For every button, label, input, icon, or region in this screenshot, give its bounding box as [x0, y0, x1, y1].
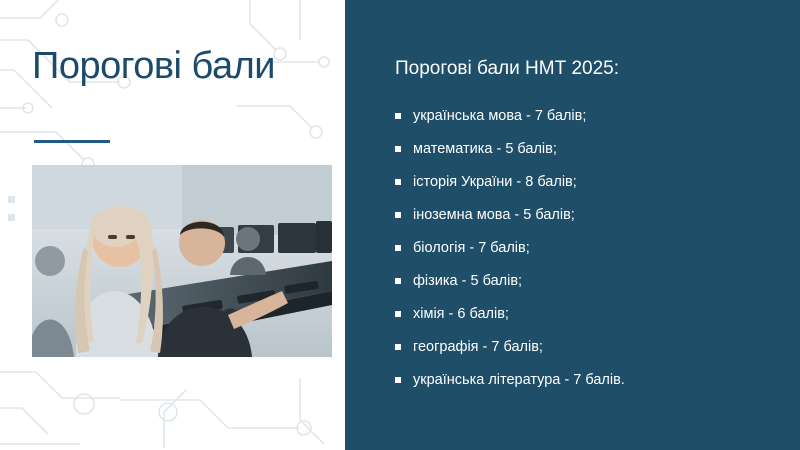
students-at-computer-classroom-photo	[32, 165, 332, 357]
list-item: українська література - 7 балів.	[395, 372, 775, 389]
list-item-label: географія - 7 балів;	[413, 339, 543, 355]
square-bullet-icon	[395, 344, 401, 350]
square-bullet-icon	[395, 377, 401, 383]
left-panel: Порогові бали	[0, 0, 345, 450]
square-bullet-icon	[395, 278, 401, 284]
square-bullet-icon	[395, 311, 401, 317]
threshold-scores-list: українська мова - 7 балів; математика - …	[395, 108, 775, 405]
content-heading: Порогові бали НМТ 2025:	[395, 58, 619, 80]
list-item: фізика - 5 балів;	[395, 273, 775, 290]
list-item-label: українська мова - 7 балів;	[413, 108, 586, 124]
list-item: біологія - 7 балів;	[395, 240, 775, 257]
square-bullet-icon	[395, 212, 401, 218]
list-item-label: іноземна мова - 5 балів;	[413, 207, 575, 223]
list-item: українська мова - 7 балів;	[395, 108, 775, 125]
list-item: хімія - 6 балів;	[395, 306, 775, 323]
square-bullet-icon	[395, 245, 401, 251]
list-item-label: фізика - 5 балів;	[413, 273, 522, 289]
right-content-panel: Порогові бали НМТ 2025: українська мова …	[345, 0, 800, 450]
presentation-slide: Порогові бали	[0, 0, 800, 450]
square-bullet-icon	[395, 113, 401, 119]
list-item-label: історія України - 8 балів;	[413, 174, 577, 190]
list-item: іноземна мова - 5 балів;	[395, 207, 775, 224]
list-item-label: українська література - 7 балів.	[413, 372, 625, 388]
list-item-label: біологія - 7 балів;	[413, 240, 530, 256]
list-item-label: хімія - 6 балів;	[413, 306, 509, 322]
square-bullet-icon	[395, 179, 401, 185]
list-item: історія України - 8 балів;	[395, 174, 775, 191]
list-item: математика - 5 балів;	[395, 141, 775, 158]
square-bullet-icon	[395, 146, 401, 152]
page-title: Порогові бали	[32, 44, 332, 88]
list-item-label: математика - 5 балів;	[413, 141, 557, 157]
list-item: географія - 7 балів;	[395, 339, 775, 356]
title-underline-rule	[34, 140, 110, 143]
